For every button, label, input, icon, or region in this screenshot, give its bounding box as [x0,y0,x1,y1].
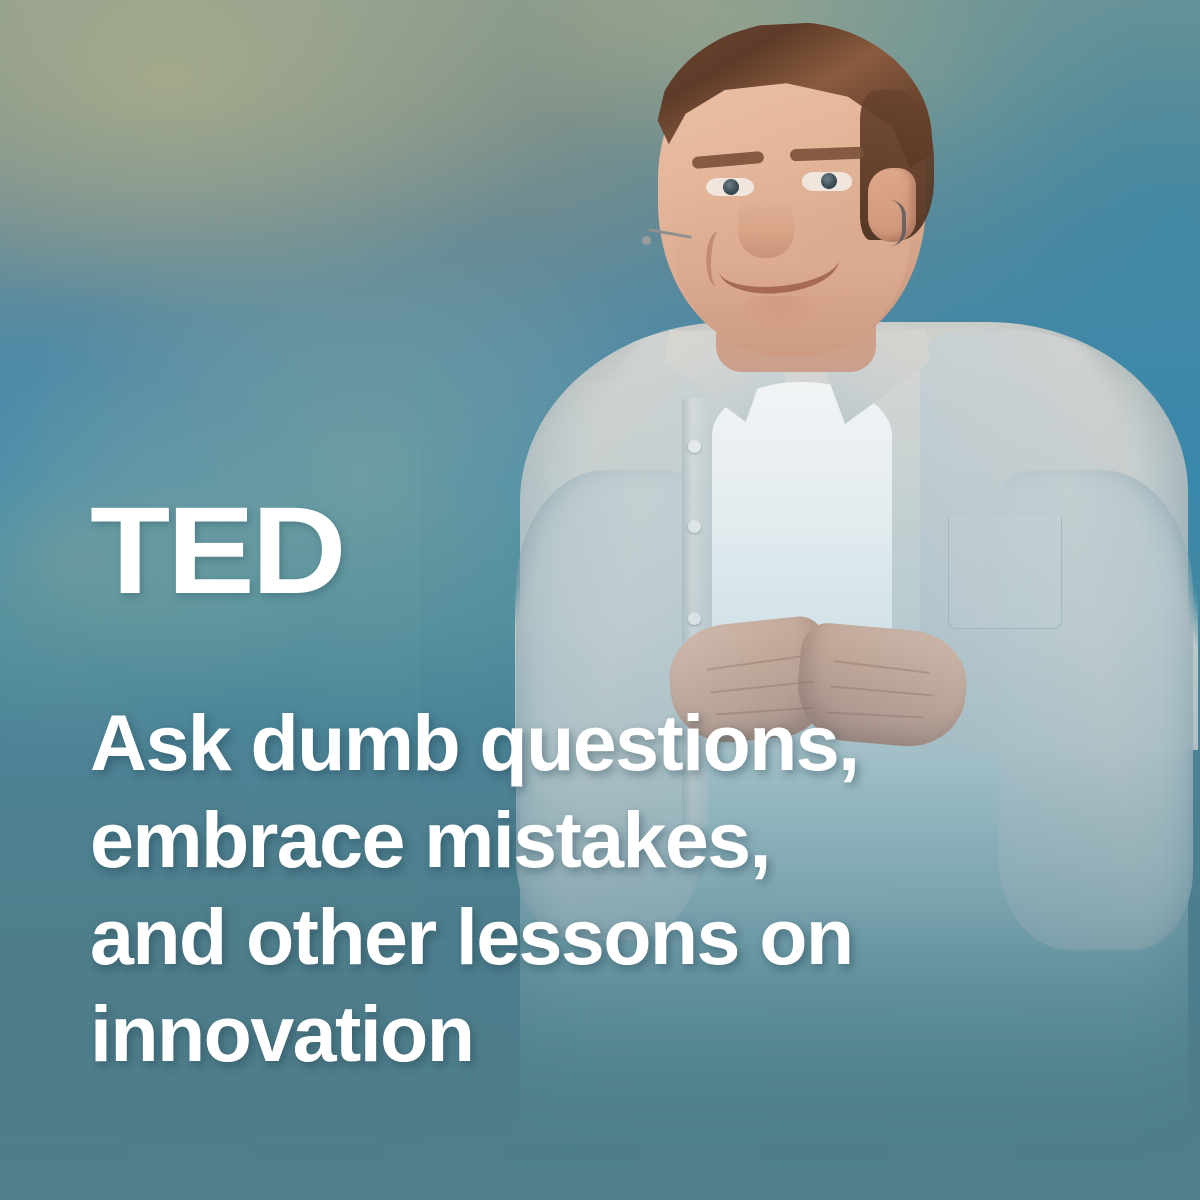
headline-line-1: Ask dumb questions, [90,694,1100,791]
ted-social-card: TED Ask dumb questions, embrace mistakes… [0,0,1200,1200]
ted-logo[interactable]: TED [90,489,343,613]
headline-line-3: and other lessons on [90,888,1100,985]
headline-line-2: embrace mistakes, [90,791,1100,888]
text-layer: TED Ask dumb questions, embrace mistakes… [0,0,1200,1200]
page-title: Ask dumb questions, embrace mistakes, an… [90,694,1100,1082]
headline-line-4: innovation [90,985,1100,1082]
